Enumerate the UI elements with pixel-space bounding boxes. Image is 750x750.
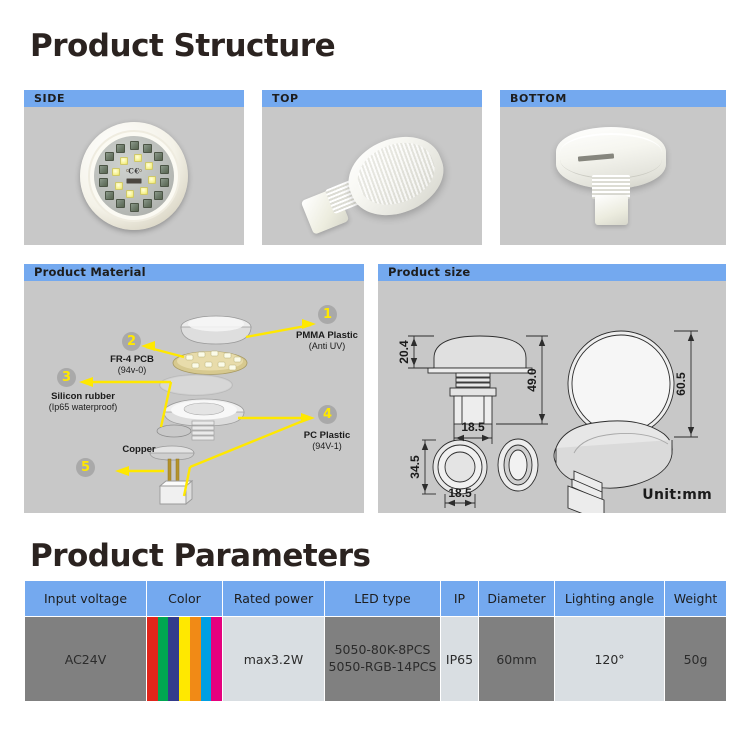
lamp-top-angled-photo xyxy=(262,107,482,245)
callout-label-silicon-rubber: Silicon rubber (Ip65 waterproof) xyxy=(27,391,139,412)
callout-number-3: 3 xyxy=(57,368,76,387)
rgb-led xyxy=(143,199,152,208)
lamp-bottom-photo xyxy=(500,107,726,245)
column-header-rated-power: Rated power xyxy=(223,581,325,617)
column-header-diameter: Diameter xyxy=(479,581,555,617)
rgb-led xyxy=(130,141,139,150)
technical-dimension-drawing: 20.4 49.0 18.5 60.5 34.5 18.5 xyxy=(378,281,726,513)
panel-bottom-header: BOTTOM xyxy=(500,90,726,107)
lamp-lens-rim-image: C€ xyxy=(80,122,188,230)
rgb-led xyxy=(105,152,114,161)
callout-number-4: 4 xyxy=(318,405,337,424)
rgb-led xyxy=(116,199,125,208)
color-swatch-5 xyxy=(190,617,201,701)
panel-product-material: Product Material xyxy=(24,264,364,513)
color-swatch-4 xyxy=(179,617,190,701)
led-pcb-front-photo: C€ xyxy=(24,107,244,245)
white-led xyxy=(112,168,120,176)
cell-rated-power: max3.2W xyxy=(223,617,325,702)
color-swatch-strip xyxy=(147,617,222,701)
color-swatch-6 xyxy=(201,617,212,701)
led-type-line-1: 5050-80K-8PCS xyxy=(327,642,438,659)
lamp-hex-nut xyxy=(595,195,628,225)
page-title-product-structure: Product Structure xyxy=(30,28,335,64)
white-led xyxy=(120,157,128,165)
rgb-led xyxy=(99,178,108,187)
column-header-color: Color xyxy=(147,581,223,617)
table-row: AC24V max3.2W 5050-80K-8PCS 5050-RGB-14P… xyxy=(25,617,727,702)
rgb-led xyxy=(116,144,125,153)
callout-label-copper: Copper xyxy=(102,444,176,455)
led-type-line-2: 5050-RGB-14PCS xyxy=(327,659,438,676)
color-swatch-7 xyxy=(211,617,222,701)
dimension-18-5-plan: 18.5 xyxy=(448,486,472,500)
dimension-20-4: 20.4 xyxy=(397,340,411,364)
color-swatch-3 xyxy=(168,617,179,701)
rgb-led xyxy=(99,165,108,174)
panel-top-header: TOP xyxy=(262,90,482,107)
cell-color xyxy=(147,617,223,702)
pcb-board: C€ xyxy=(94,136,174,216)
panel-product-size-body: 20.4 49.0 18.5 60.5 34.5 18.5 Unit:mm xyxy=(378,281,726,513)
panel-bottom: BOTTOM xyxy=(500,90,726,245)
pcb-driver-chip xyxy=(127,178,142,183)
callout-label-pmma-plastic: PMMA Plastic (Anti UV) xyxy=(271,330,364,351)
rgb-led xyxy=(160,178,169,187)
panel-top: TOP xyxy=(262,90,482,245)
dimension-49-0: 49.0 xyxy=(525,368,539,392)
cell-weight: 50g xyxy=(665,617,727,702)
pcb-solder-pad xyxy=(126,169,129,172)
product-spec-sheet: Product Structure SIDE C€ TOP xyxy=(0,0,750,750)
panel-side-header: SIDE xyxy=(24,90,244,107)
product-parameters-table: Input voltage Color Rated power LED type… xyxy=(24,580,727,702)
white-led xyxy=(148,176,156,184)
cell-led-type: 5050-80K-8PCS 5050-RGB-14PCS xyxy=(325,617,441,702)
panel-top-body xyxy=(262,107,482,245)
lamp-lens-dome xyxy=(338,124,455,229)
panel-side: SIDE C€ xyxy=(24,90,244,245)
callout-number-1: 1 xyxy=(318,305,337,324)
rgb-led xyxy=(130,203,139,212)
rgb-led xyxy=(105,191,114,200)
panel-product-size: Product size xyxy=(378,264,726,513)
column-header-lighting-angle: Lighting angle xyxy=(555,581,665,617)
dimension-60-5: 60.5 xyxy=(674,372,688,396)
white-led xyxy=(145,162,153,170)
dimension-34-5: 34.5 xyxy=(408,455,422,479)
color-swatch-1 xyxy=(147,617,158,701)
table-header-row: Input voltage Color Rated power LED type… xyxy=(25,581,727,617)
rgb-led xyxy=(160,165,169,174)
pcb-solder-pad xyxy=(139,169,142,172)
rgb-led xyxy=(154,152,163,161)
white-led xyxy=(140,187,148,195)
panel-product-size-header: Product size xyxy=(378,264,726,281)
cell-input-voltage: AC24V xyxy=(25,617,147,702)
panel-product-material-header: Product Material xyxy=(24,264,364,281)
white-led xyxy=(115,182,123,190)
panel-bottom-body xyxy=(500,107,726,245)
panel-product-material-body: 1 PMMA Plastic (Anti UV) 2 FR-4 PCB (94v… xyxy=(24,281,364,513)
column-header-led-type: LED type xyxy=(325,581,441,617)
cell-diameter: 60mm xyxy=(479,617,555,702)
column-header-ip: IP xyxy=(441,581,479,617)
color-swatch-2 xyxy=(158,617,169,701)
callout-number-2: 2 xyxy=(122,332,141,351)
white-led xyxy=(126,190,134,198)
cell-lighting-angle: 120° xyxy=(555,617,665,702)
white-led xyxy=(134,154,142,162)
column-header-weight: Weight xyxy=(665,581,727,617)
callout-label-fr4-pcb: FR-4 PCB (94v-0) xyxy=(84,354,180,375)
callout-label-pc-plastic: PC Plastic (94V-1) xyxy=(273,430,364,451)
callout-number-5: 5 xyxy=(76,458,95,477)
cell-ip: IP65 xyxy=(441,617,479,702)
ce-mark-icon: C€ xyxy=(128,167,139,176)
rgb-led xyxy=(154,191,163,200)
column-header-input-voltage: Input voltage xyxy=(25,581,147,617)
rgb-led xyxy=(143,144,152,153)
lens-rib-texture xyxy=(349,132,443,215)
page-title-product-parameters: Product Parameters xyxy=(30,538,370,574)
panel-side-body: C€ xyxy=(24,107,244,245)
dimension-18-5-side: 18.5 xyxy=(461,420,485,434)
unit-label: Unit:mm xyxy=(642,487,712,503)
